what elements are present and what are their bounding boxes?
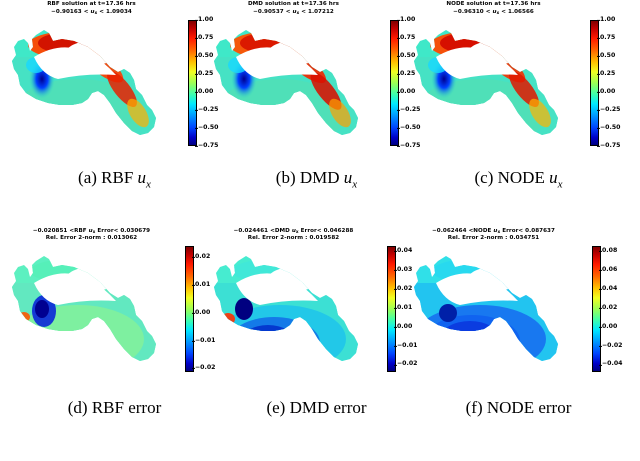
panel-dmd-error: −0.024461 <DMD ux Error< 0.046288 Rel. E… xyxy=(206,226,419,422)
field-plot-rbf-solution xyxy=(6,17,178,149)
caption-a: (a) RBF ux xyxy=(8,168,221,190)
title-line2: Rel. Error 2-norm : 0.019582 xyxy=(206,235,381,242)
panel-node-solution: NODE solution at t=17.36 hrs −0.96310 < … xyxy=(406,0,619,196)
panel-title-dmd-error: −0.024461 <DMD ux Error< 0.046288 Rel. E… xyxy=(206,227,381,242)
bay-domain-svg xyxy=(408,17,580,149)
caption-c: (c) NODE ux xyxy=(412,168,625,190)
title-line1: NODE solution at t=17.36 hrs xyxy=(446,1,540,7)
bay-domain-svg xyxy=(208,17,380,149)
panel-title-node-error: −0.062464 <NODE ux Error< 0.087637 Rel. … xyxy=(406,227,581,242)
colorbar-dmd-error xyxy=(387,246,396,372)
title-line2: Rel. Error 2-norm : 0.013062 xyxy=(4,235,179,242)
title-line1: −0.062464 <NODE ux Error< 0.087637 xyxy=(432,228,555,234)
panel-rbf-solution: RBF solution at t=17.36 hrs −0.90163 < u… xyxy=(4,0,217,196)
title-line2: −0.90537 < ux < 1.07212 xyxy=(206,8,381,16)
field-plot-dmd-solution xyxy=(208,17,380,149)
title-line2: Rel. Error 2-norm : 0.034751 xyxy=(406,235,581,242)
field-plot-node-solution xyxy=(408,17,580,149)
panel-title-node-solution: NODE solution at t=17.36 hrs −0.96310 < … xyxy=(406,1,581,16)
panel-title-rbf-error: −0.020851 <RBF ux Error< 0.030679 Rel. E… xyxy=(4,227,179,242)
colorbar-node-error xyxy=(592,246,601,372)
title-line1: DMD solution at t=17.36 hrs xyxy=(248,1,339,7)
caption-f: (f) NODE error xyxy=(412,398,625,418)
colorbar-rbf-error xyxy=(185,246,194,372)
panel-dmd-solution: DMD solution at t=17.36 hrs −0.90537 < u… xyxy=(206,0,419,196)
panel-rbf-error: −0.020851 <RBF ux Error< 0.030679 Rel. E… xyxy=(4,226,217,422)
caption-d: (d) RBF error xyxy=(8,398,221,418)
panel-title-rbf-solution: RBF solution at t=17.36 hrs −0.90163 < u… xyxy=(4,1,179,16)
field-plot-rbf-error xyxy=(6,243,178,375)
panel-node-error: −0.062464 <NODE ux Error< 0.087637 Rel. … xyxy=(406,226,619,422)
bay-domain-svg xyxy=(6,243,178,375)
title-line1: −0.020851 <RBF ux Error< 0.030679 xyxy=(33,228,150,234)
caption-e: (e) DMD error xyxy=(210,398,423,418)
field-plot-node-error xyxy=(408,243,580,375)
title-line2: −0.96310 < ux < 1.06566 xyxy=(406,8,581,16)
bay-domain-svg xyxy=(208,243,380,375)
field-plot-dmd-error xyxy=(208,243,380,375)
caption-b: (b) DMD ux xyxy=(210,168,423,190)
title-line1: −0.024461 <DMD ux Error< 0.046288 xyxy=(234,228,354,234)
title-line2: −0.90163 < ux < 1.09034 xyxy=(4,8,179,16)
bay-domain-svg xyxy=(408,243,580,375)
figure-grid: RBF solution at t=17.36 hrs −0.90163 < u… xyxy=(0,0,640,461)
bay-domain-svg xyxy=(6,17,178,149)
title-line1: RBF solution at t=17.36 hrs xyxy=(47,1,136,7)
panel-title-dmd-solution: DMD solution at t=17.36 hrs −0.90537 < u… xyxy=(206,1,381,16)
